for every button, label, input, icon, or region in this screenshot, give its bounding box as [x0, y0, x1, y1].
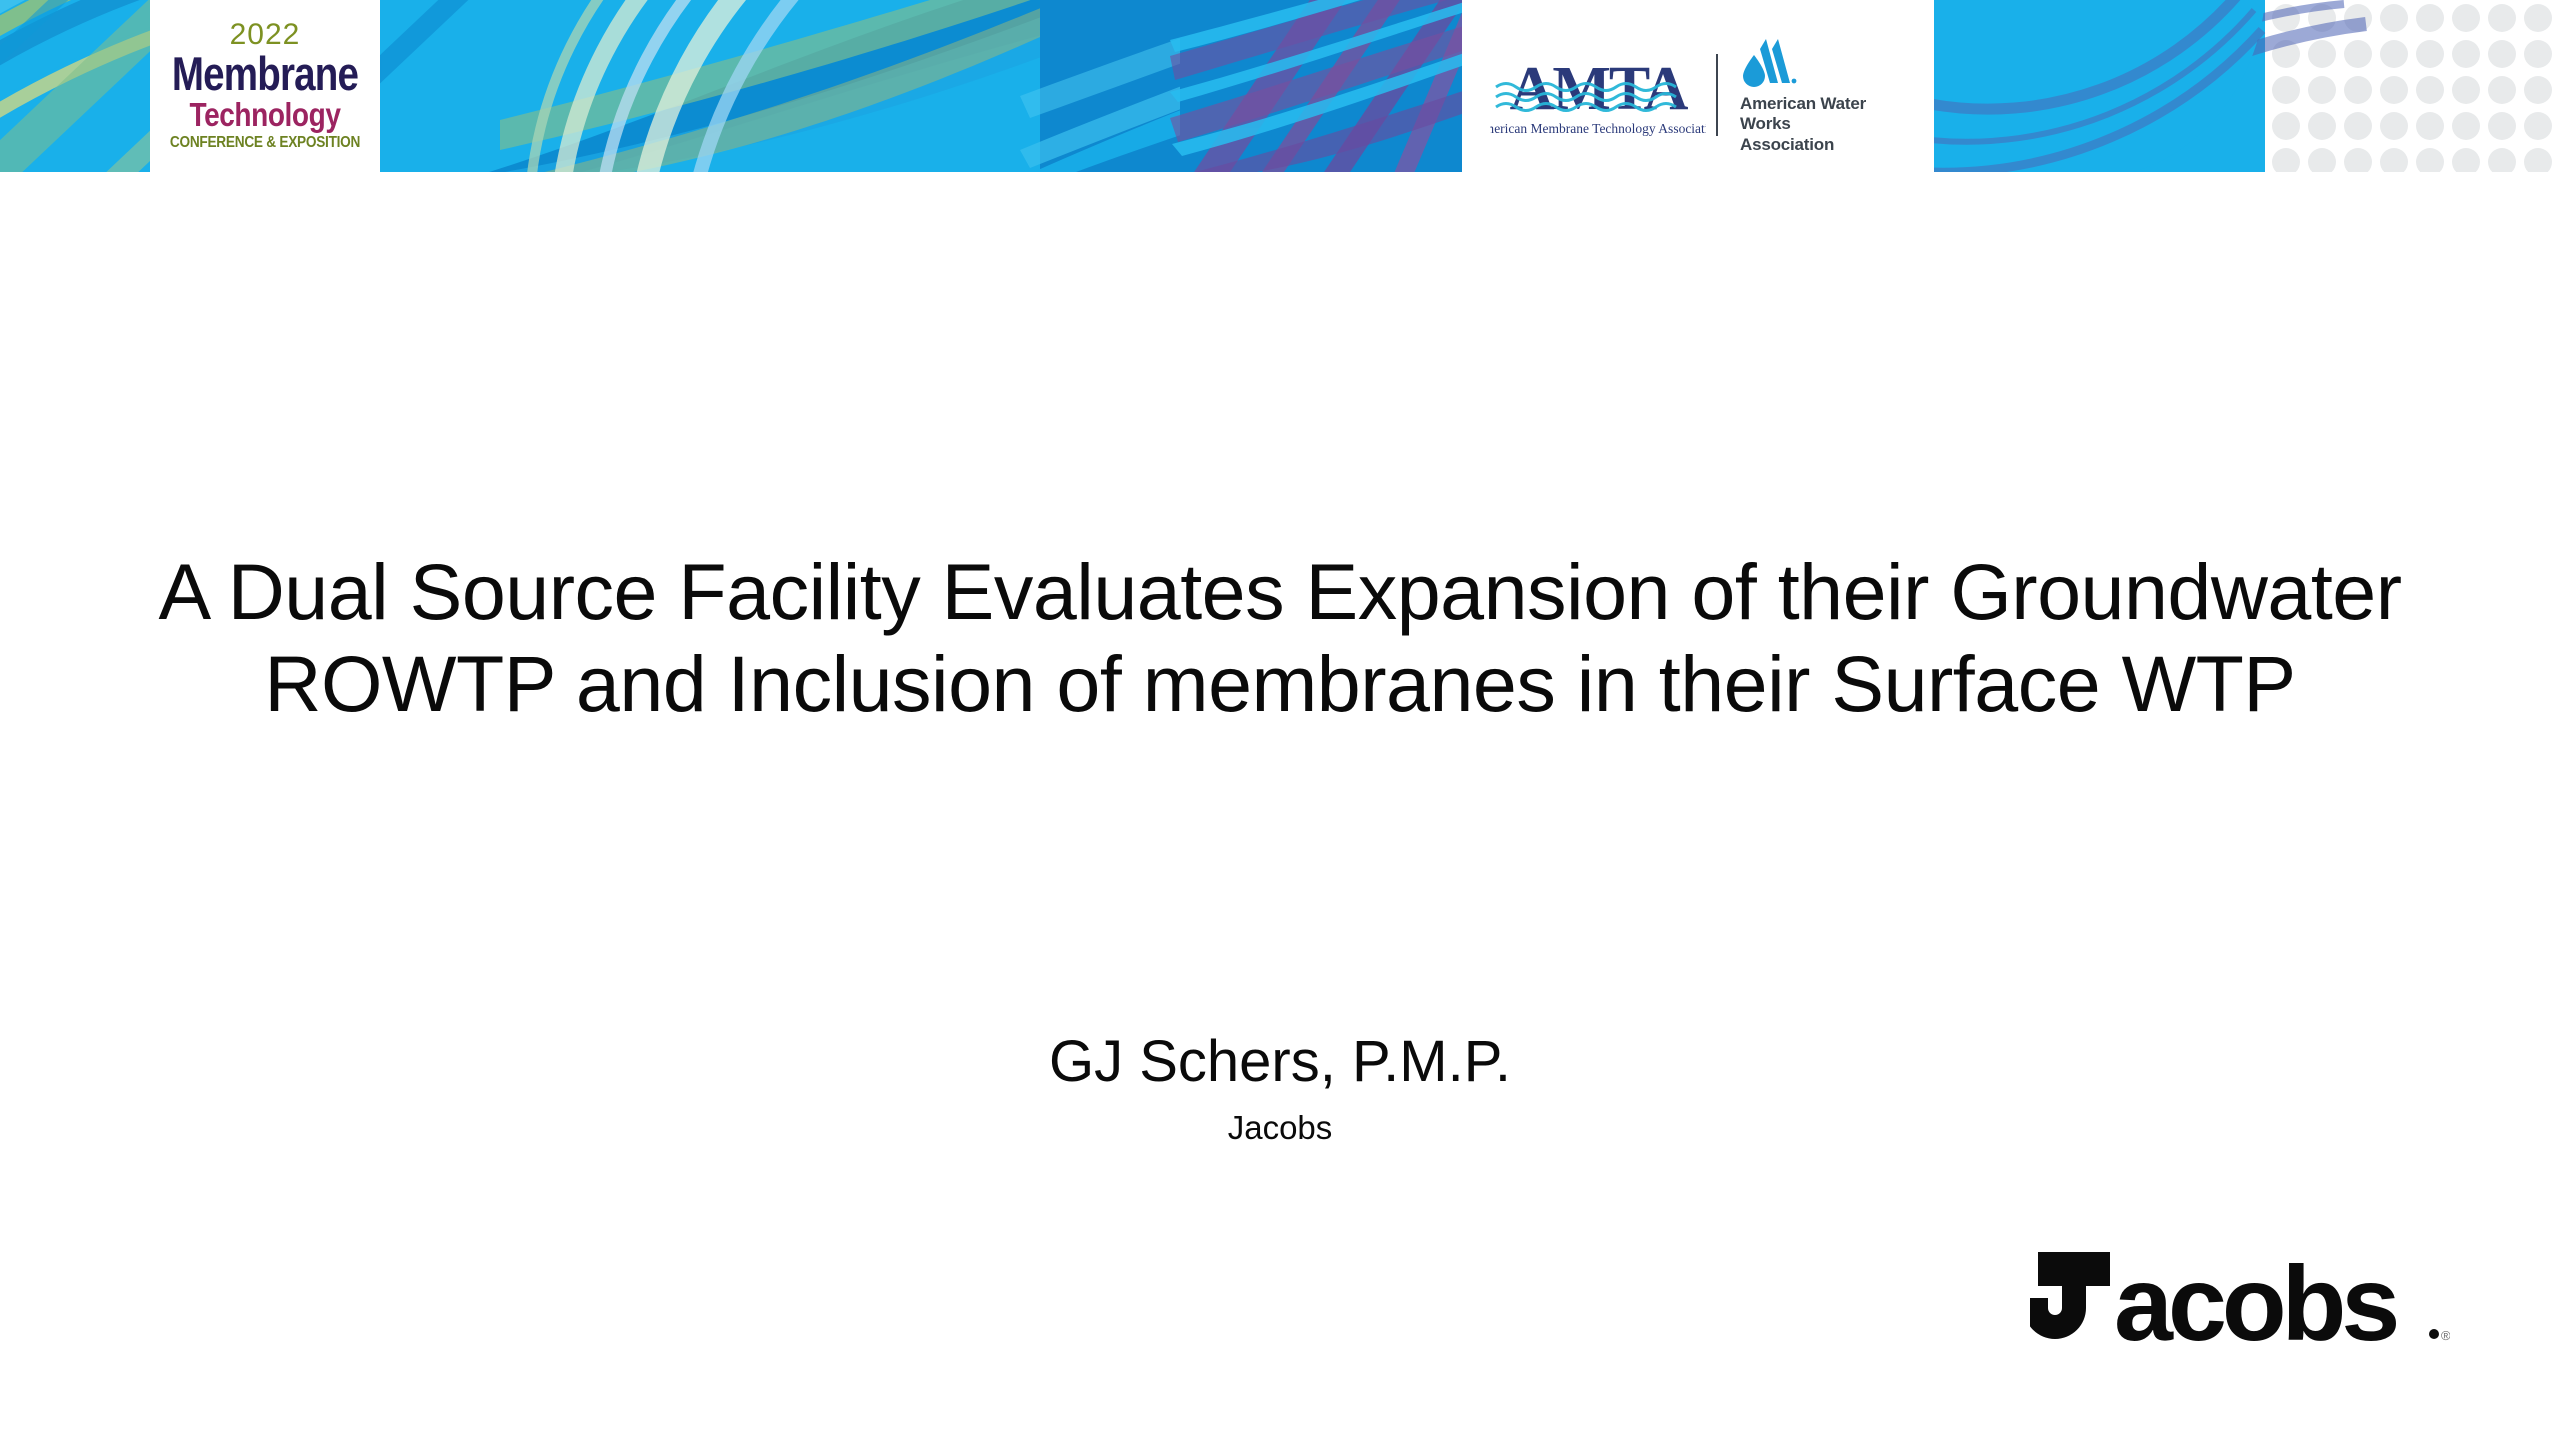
amta-full-name: American Membrane Technology Association	[1490, 121, 1706, 136]
conference-logo: 2022 Membrane Technology CONFERENCE & EX…	[150, 0, 380, 178]
amta-logo-graphic: AMTA American Membrane Technology Associ…	[1490, 49, 1706, 141]
author-organization: Jacobs	[130, 1110, 2430, 1146]
jacobs-logo-graphic: acobs ®	[2030, 1242, 2450, 1352]
awwa-water-drop-icon	[1740, 37, 1800, 87]
svg-text:acobs: acobs	[2114, 1245, 2396, 1352]
author-name: GJ Schers, P.M.P.	[130, 1030, 2430, 1094]
presentation-slide: 2022 Membrane Technology CONFERENCE & EX…	[0, 0, 2560, 1440]
association-logos-panel: AMTA American Membrane Technology Associ…	[1478, 0, 1930, 178]
banner-background-graphic	[0, 0, 2560, 178]
awwa-name-line2: Association	[1740, 135, 1918, 155]
awwa-logo: American Water Works Association	[1740, 37, 1918, 154]
conference-logo-tagline: CONFERENCE & EXPOSITION	[164, 135, 366, 151]
jacobs-company-logo: acobs ®	[2030, 1242, 2450, 1352]
jacobs-trademark-symbol: ®	[2441, 1328, 2450, 1343]
association-divider	[1716, 54, 1718, 136]
slide-title: A Dual Source Facility Evaluates Expansi…	[130, 546, 2430, 731]
title-block: A Dual Source Facility Evaluates Expansi…	[130, 546, 2430, 731]
conference-banner: 2022 Membrane Technology CONFERENCE & EX…	[0, 0, 2560, 178]
author-block: GJ Schers, P.M.P. Jacobs	[130, 1030, 2430, 1146]
conference-logo-name-line2: Technology	[167, 98, 363, 131]
conference-logo-name-line1: Membrane	[171, 51, 360, 97]
awwa-name-line1: American Water Works	[1740, 94, 1918, 134]
awwa-name: American Water Works Association	[1740, 94, 1918, 154]
amta-logo: AMTA American Membrane Technology Associ…	[1490, 49, 1706, 141]
conference-logo-year: 2022	[150, 20, 380, 50]
